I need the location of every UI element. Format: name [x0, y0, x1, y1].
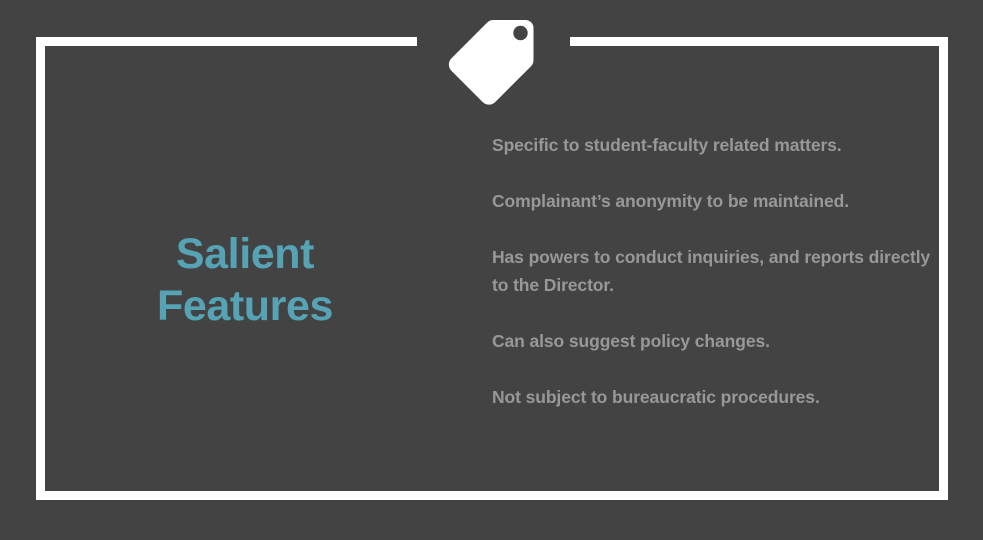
- frame-border-left: [36, 37, 45, 500]
- list-item: Specific to student-faculty related matt…: [492, 131, 932, 159]
- list-item: Complainant’s anonymity to be maintained…: [492, 187, 932, 215]
- frame-border-top-right: [570, 37, 948, 46]
- slide-canvas: Salient Features Specific to student-fac…: [0, 0, 983, 540]
- feature-list: Specific to student-faculty related matt…: [492, 131, 932, 411]
- page-title-line-1: Salient: [46, 228, 444, 280]
- list-item: Can also suggest policy changes.: [492, 327, 932, 355]
- frame-border-bottom: [36, 491, 948, 500]
- frame-border-top-left: [36, 37, 417, 46]
- list-item: Not subject to bureaucratic procedures.: [492, 383, 932, 411]
- frame-border-right: [939, 37, 948, 500]
- page-title: Salient Features: [46, 228, 444, 332]
- list-item: Has powers to conduct inquiries, and rep…: [492, 243, 932, 299]
- page-title-line-2: Features: [46, 280, 444, 332]
- price-tag-icon: [441, 12, 541, 112]
